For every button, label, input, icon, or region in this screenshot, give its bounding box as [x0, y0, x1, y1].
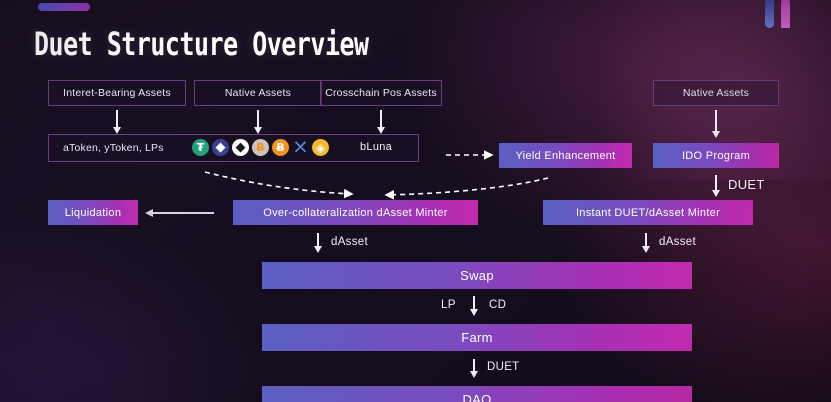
ethereum-white-coin-icon: ◆	[232, 139, 249, 156]
module-over-collateralization-minter[interactable]: Over-collateralization dAsset Minter	[233, 200, 478, 225]
arrow-down-native	[257, 110, 259, 128]
asset-source-label: Interet-Bearing Assets	[63, 87, 171, 99]
module-liquidation[interactable]: Liquidation	[48, 200, 138, 225]
module-farm[interactable]: Farm	[262, 324, 692, 351]
token-row-left-label: aToken, yToken, LPs	[63, 142, 164, 154]
flow-label-duet: DUET	[728, 177, 765, 192]
module-label: Instant DUET/dAsset Minter	[576, 207, 720, 219]
module-label: Over-collateralization dAsset Minter	[263, 207, 447, 219]
module-yield-enhancement[interactable]: Yield Enhancement	[499, 143, 632, 168]
module-label: Farm	[461, 330, 493, 345]
ethereum-blue-coin-icon: ◆	[212, 139, 229, 156]
flow-label-duet-farm: DUET	[487, 361, 520, 373]
arrow-down-dasset-left	[317, 233, 319, 247]
asset-source-label: Native Assets	[683, 87, 749, 99]
module-label: Liquidation	[65, 207, 122, 219]
arrow-down-interest	[116, 110, 118, 128]
arrow-down-dasset-right	[645, 233, 647, 247]
asset-source-box-native: Native Assets	[194, 80, 322, 106]
diagram-canvas: Duet Structure Overview Interet-Bearing …	[0, 0, 831, 402]
bitcoin-orange-coin-icon: Ƀ	[272, 139, 289, 156]
asset-source-label: Native Assets	[225, 87, 291, 99]
arrow-down-farm-to-dao	[473, 359, 475, 372]
accent-bar	[38, 3, 90, 11]
bnb-coin-icon: ◈	[312, 139, 329, 156]
token-row-right-label: bLuna	[360, 141, 392, 153]
arrow-left-to-liquidation	[152, 212, 214, 214]
token-coin-group: ₮ ◆ ◆ Ƀ Ƀ ⨉ ◈	[192, 139, 329, 156]
module-instant-minter[interactable]: Instant DUET/dAsset Minter	[543, 200, 753, 225]
module-label: DAO	[462, 392, 491, 402]
flow-label-lp: LP	[441, 299, 456, 311]
asset-source-box-native-right: Native Assets	[653, 80, 779, 106]
asset-source-box-interest-bearing: Interet-Bearing Assets	[48, 80, 186, 106]
asset-source-label: Crosschain Pos Assets	[325, 87, 437, 99]
flow-label-dasset-left: dAsset	[331, 236, 368, 248]
arrow-down-duet	[715, 175, 717, 191]
arrow-down-native-right	[715, 110, 717, 132]
module-label: IDO Program	[682, 150, 750, 162]
usdt-coin-icon: ₮	[192, 139, 209, 156]
module-ido-program[interactable]: IDO Program	[653, 143, 779, 168]
logo-bar-left	[765, 0, 774, 28]
bitcoin-grey-coin-icon: Ƀ	[252, 139, 269, 156]
module-dao[interactable]: DAO	[262, 386, 692, 402]
module-label: Yield Enhancement	[515, 150, 615, 162]
logo-bar-right	[781, 0, 790, 28]
module-label: Swap	[460, 268, 494, 283]
module-swap[interactable]: Swap	[262, 262, 692, 289]
duet-logo	[762, 0, 798, 32]
flow-label-dasset-right: dAsset	[659, 236, 696, 248]
swap-cross-icon: ⨉	[292, 139, 309, 156]
page-title: Duet Structure Overview	[34, 27, 369, 64]
arrow-down-crosschain	[380, 110, 382, 128]
asset-source-box-crosschain: Crosschain Pos Assets	[320, 80, 442, 106]
arrow-down-swap-to-farm	[473, 296, 475, 310]
flow-label-cd: CD	[489, 299, 506, 311]
